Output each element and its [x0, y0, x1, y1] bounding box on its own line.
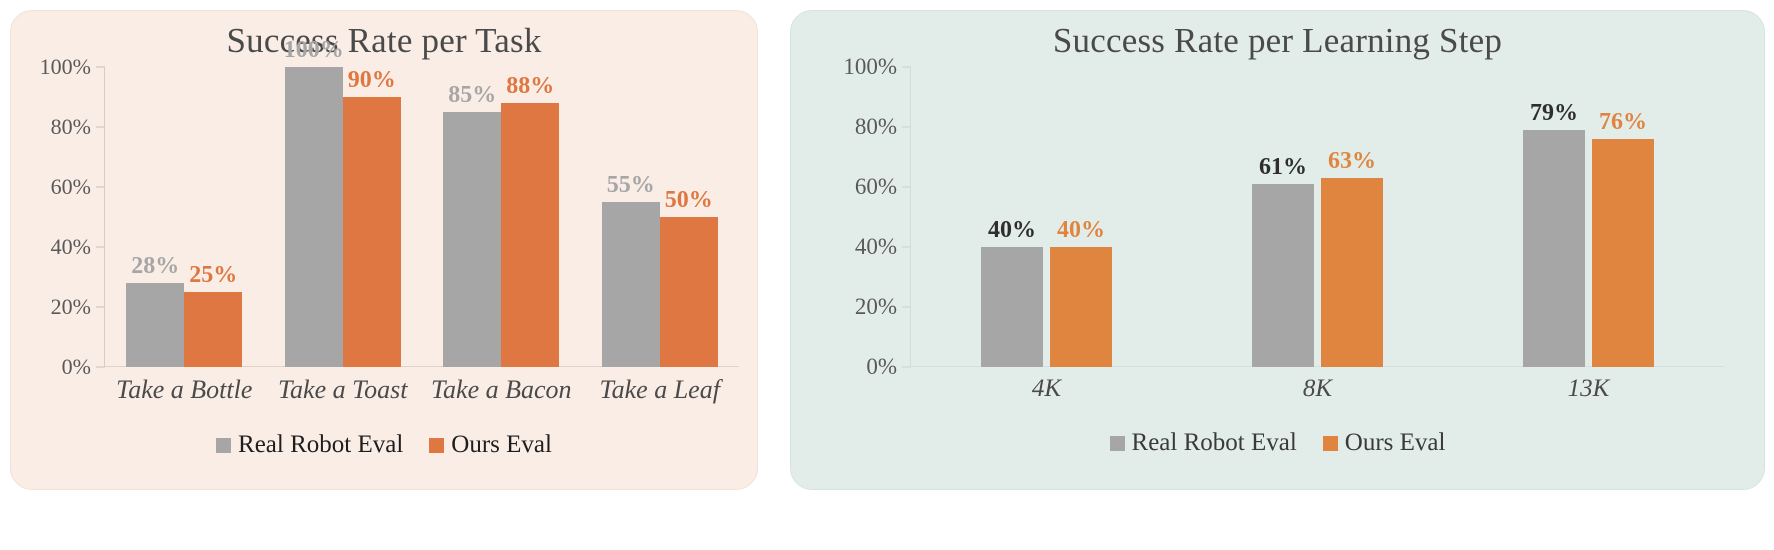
bar[interactable]: 79%	[1523, 130, 1585, 367]
bar[interactable]: 40%	[1050, 247, 1112, 367]
bar-pair: 55%50%	[602, 67, 718, 367]
legend-item-real-robot-eval: Real Robot Eval	[1110, 429, 1297, 457]
y-tick-label: 60%	[51, 174, 91, 200]
x-tick-label: Take a Leaf	[581, 375, 740, 405]
bar[interactable]: 61%	[1252, 184, 1314, 367]
bar[interactable]: 25%	[184, 292, 242, 367]
bar-value-label: 100%	[284, 37, 344, 64]
bar-group: 79%76%	[1453, 67, 1724, 367]
y-tick-label: 100%	[843, 54, 897, 80]
bar[interactable]: 88%	[501, 103, 559, 367]
y-tick-label: 60%	[855, 174, 897, 200]
legend-label: Real Robot Eval	[238, 431, 403, 459]
bar-value-label: 90%	[348, 67, 396, 94]
plot-area-task: 28%25%100%90%85%88%55%50%	[105, 67, 739, 367]
plot-area-learning-step: 40%40%61%63%79%76%	[911, 67, 1724, 367]
y-tick-label: 80%	[855, 114, 897, 140]
bar-value-label: 55%	[607, 172, 655, 199]
bar[interactable]: 100%	[285, 67, 343, 367]
x-tick-labels-task: Take a BottleTake a ToastTake a BaconTak…	[105, 375, 739, 405]
y-tick-label: 0%	[62, 354, 91, 380]
bar-value-label: 85%	[448, 82, 496, 109]
legend-swatch-icon	[1110, 436, 1125, 451]
bar-group: 85%88%	[422, 67, 581, 367]
bar-pair: 61%63%	[1252, 67, 1383, 367]
legend-task: Real Robot Eval Ours Eval	[11, 431, 757, 459]
y-tick-label: 40%	[51, 234, 91, 260]
bar-pair: 85%88%	[443, 67, 559, 367]
plot-region-learning-step: 0%20%40%60%80%100% 40%40%61%63%79%76%	[831, 67, 1724, 367]
legend-label: Ours Eval	[1345, 429, 1446, 457]
bar-value-label: 79%	[1530, 100, 1578, 127]
y-tick-label: 20%	[51, 294, 91, 320]
bar[interactable]: 28%	[126, 283, 184, 367]
chart-panel-success-rate-per-task: Success Rate per Task 0%20%40%60%80%100%…	[10, 10, 758, 490]
bar[interactable]: 40%	[981, 247, 1043, 367]
bar-value-label: 40%	[988, 217, 1036, 244]
legend-item-ours-eval: Ours Eval	[1323, 429, 1446, 457]
legend-item-ours-eval: Ours Eval	[429, 431, 552, 459]
legend-learning-step: Real Robot Eval Ours Eval	[791, 429, 1764, 457]
bar-group: 40%40%	[911, 67, 1182, 367]
y-axis-learning-step: 0%20%40%60%80%100%	[831, 67, 911, 367]
legend-label: Real Robot Eval	[1132, 429, 1297, 457]
bar-value-label: 88%	[506, 73, 554, 100]
bar-pair: 79%76%	[1523, 67, 1654, 367]
x-tick-labels-learning-step: 4K8K13K	[911, 375, 1724, 403]
bar-value-label: 76%	[1599, 109, 1647, 136]
bar-value-label: 63%	[1328, 148, 1376, 175]
plot-region-task: 0%20%40%60%80%100% 28%25%100%90%85%88%55…	[33, 67, 739, 367]
y-tick-label: 40%	[855, 234, 897, 260]
legend-label: Ours Eval	[451, 431, 552, 459]
bar[interactable]: 85%	[443, 112, 501, 367]
bar-group: 100%90%	[264, 67, 423, 367]
bar-pair: 40%40%	[981, 67, 1112, 367]
chart-panel-success-rate-per-learning-step: Success Rate per Learning Step 0%20%40%6…	[790, 10, 1765, 490]
x-tick-label: 8K	[1182, 375, 1453, 403]
x-tick-label: Take a Bottle	[105, 375, 264, 405]
bar-value-label: 25%	[189, 262, 237, 289]
legend-swatch-icon	[216, 438, 231, 453]
legend-swatch-icon	[1323, 436, 1338, 451]
bar[interactable]: 63%	[1321, 178, 1383, 367]
bar-group: 61%63%	[1182, 67, 1453, 367]
bar-pair: 100%90%	[285, 67, 401, 367]
bar[interactable]: 50%	[660, 217, 718, 367]
y-tick-label: 20%	[855, 294, 897, 320]
y-axis-task: 0%20%40%60%80%100%	[33, 67, 105, 367]
page-title: Success Rate per Learning Step	[791, 11, 1764, 61]
y-tick-label: 80%	[51, 114, 91, 140]
x-tick-label: Take a Bacon	[422, 375, 581, 405]
bar-group: 28%25%	[105, 67, 264, 367]
bar-group: 55%50%	[581, 67, 740, 367]
bar-pair: 28%25%	[126, 67, 242, 367]
legend-item-real-robot-eval: Real Robot Eval	[216, 431, 403, 459]
x-tick-label: 13K	[1453, 375, 1724, 403]
bar-value-label: 40%	[1057, 217, 1105, 244]
y-tick-label: 0%	[866, 354, 897, 380]
bar[interactable]: 90%	[343, 97, 401, 367]
bar-groups-task: 28%25%100%90%85%88%55%50%	[105, 67, 739, 367]
bar-groups-learning-step: 40%40%61%63%79%76%	[911, 67, 1724, 367]
legend-swatch-icon	[429, 438, 444, 453]
bar-value-label: 61%	[1259, 154, 1307, 181]
figure-root: Success Rate per Task 0%20%40%60%80%100%…	[0, 0, 1774, 550]
page-title: Success Rate per Task	[11, 11, 757, 61]
bar[interactable]: 55%	[602, 202, 660, 367]
bar-value-label: 50%	[665, 187, 713, 214]
x-tick-label: Take a Toast	[264, 375, 423, 405]
x-tick-label: 4K	[911, 375, 1182, 403]
y-tick-label: 100%	[40, 54, 91, 80]
bar[interactable]: 76%	[1592, 139, 1654, 367]
bar-value-label: 28%	[131, 253, 179, 280]
